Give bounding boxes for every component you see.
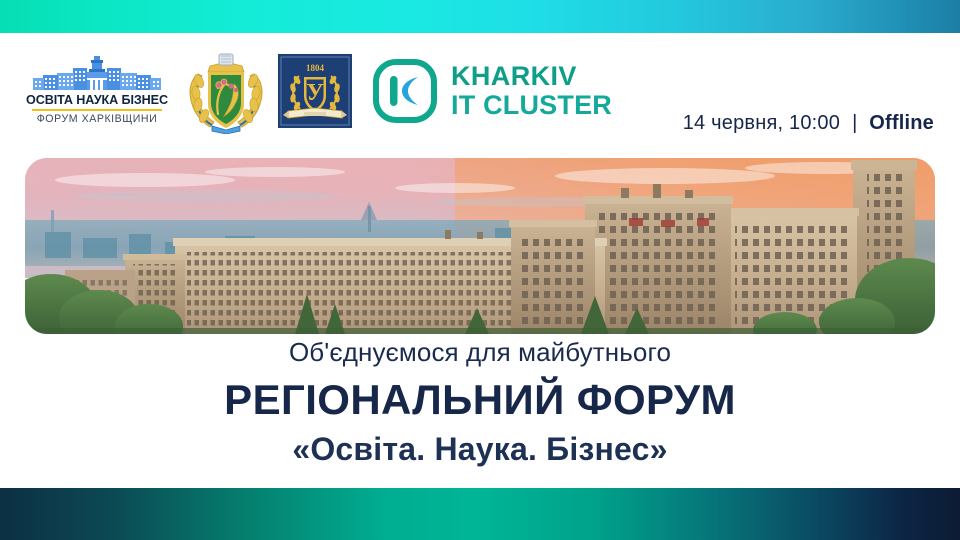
meta-separator: | xyxy=(850,112,859,135)
karazin-university-photo xyxy=(25,158,935,334)
logo-forum-line1: ОСВІТА НАУКА БІЗНЕС xyxy=(26,93,168,107)
event-poster: ОСВІТА НАУКА БІЗНЕС ФОРУМ ХАРКІВЩИНИ xyxy=(0,0,960,540)
event-date: 14 червня, 10:00 xyxy=(683,112,840,135)
top-gradient-bar xyxy=(0,0,960,33)
hero-photo xyxy=(25,158,935,334)
kitc-word-2: IT CLUSTER xyxy=(451,92,612,119)
event-format-badge: Offline xyxy=(869,112,934,135)
headline-block: Об'єднуємося для майбутнього РЕГІОНАЛЬНИ… xyxy=(0,338,960,467)
kharkiv-it-cluster-mark xyxy=(372,58,438,124)
university-emblem-icon[interactable]: 1804 У xyxy=(278,54,352,128)
headline-subtitle: «Освіта. Наука. Бізнес» xyxy=(0,431,960,468)
headline-kicker: Об'єднуємося для майбутнього xyxy=(0,338,960,367)
building-icon xyxy=(33,56,161,90)
svg-text:1804: 1804 xyxy=(306,63,325,73)
kharkiv-it-cluster-wordmark: KHARKIV IT CLUSTER xyxy=(451,63,612,119)
page-title: РЕГІОНАЛЬНИЙ ФОРУМ xyxy=(0,376,960,423)
coat-of-arms-icon[interactable] xyxy=(186,48,266,134)
svg-text:У: У xyxy=(306,80,324,106)
logo-forum-line2: ФОРУМ ХАРКІВЩИНИ xyxy=(37,113,158,125)
logo-kharkiv-it-cluster[interactable]: KHARKIV IT CLUSTER xyxy=(372,58,612,124)
logo-row: ОСВІТА НАУКА БІЗНЕС ФОРУМ ХАРКІВЩИНИ xyxy=(22,33,612,148)
kitc-word-1: KHARKIV xyxy=(451,63,612,90)
logo-forum-divider xyxy=(32,109,162,111)
bottom-gradient-bar xyxy=(0,488,960,540)
header: ОСВІТА НАУКА БІЗНЕС ФОРУМ ХАРКІВЩИНИ xyxy=(0,33,960,148)
logo-forum[interactable]: ОСВІТА НАУКА БІЗНЕС ФОРУМ ХАРКІВЩИНИ xyxy=(22,56,172,125)
